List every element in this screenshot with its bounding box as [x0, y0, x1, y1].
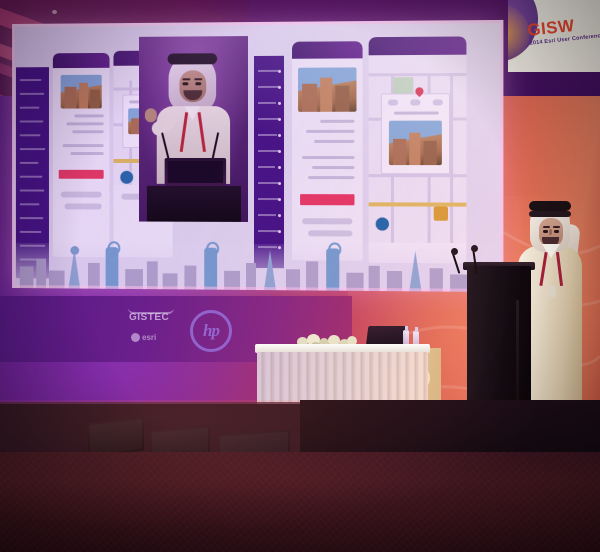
projection-screen [12, 20, 503, 292]
esri-logo-label: esri [142, 333, 156, 342]
microphone-head-icon [471, 245, 478, 252]
hp-logo: hp [190, 310, 232, 352]
ceiling-light [52, 10, 57, 14]
gisw-banner: GISW 2014 Esri User Conference [508, 0, 600, 72]
hp-logo-label: hp [203, 321, 219, 341]
microphone-head-icon [451, 248, 458, 255]
igal-cord [529, 201, 571, 211]
screen-glare [12, 20, 503, 292]
igal-cord [529, 211, 571, 217]
gistec-logo: GISTEC [129, 312, 169, 323]
esri-mark-icon [131, 333, 140, 342]
floor-light-cast [0, 400, 600, 552]
speakers-podium [467, 266, 531, 418]
conference-stage-photo: GISW 2014 Esri User Conference GISTEC es… [0, 0, 600, 552]
esri-logo: esri [131, 333, 156, 342]
name-badge [548, 286, 556, 297]
